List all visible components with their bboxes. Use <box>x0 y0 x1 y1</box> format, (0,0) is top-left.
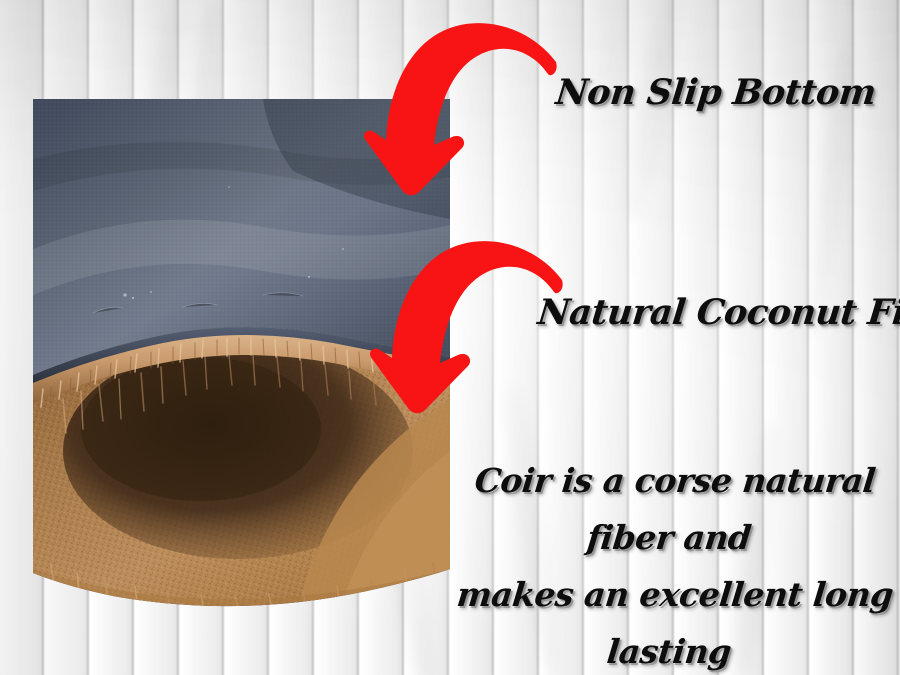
infographic-canvas: Non Slip Bottom Natural Coconut Fibers C… <box>0 0 900 675</box>
callout-non-slip-bottom: Non Slip Bottom <box>554 72 878 113</box>
body-copy-line: Coir is a corse natural fiber and <box>446 452 898 566</box>
product-photo-doormat <box>33 99 450 611</box>
callout-natural-coconut-fibers: Natural Coconut Fibers <box>536 292 900 333</box>
body-copy-paragraph: Coir is a corse natural fiber and makes … <box>452 452 892 675</box>
body-copy-line: makes an excellent long lasting <box>446 566 898 675</box>
